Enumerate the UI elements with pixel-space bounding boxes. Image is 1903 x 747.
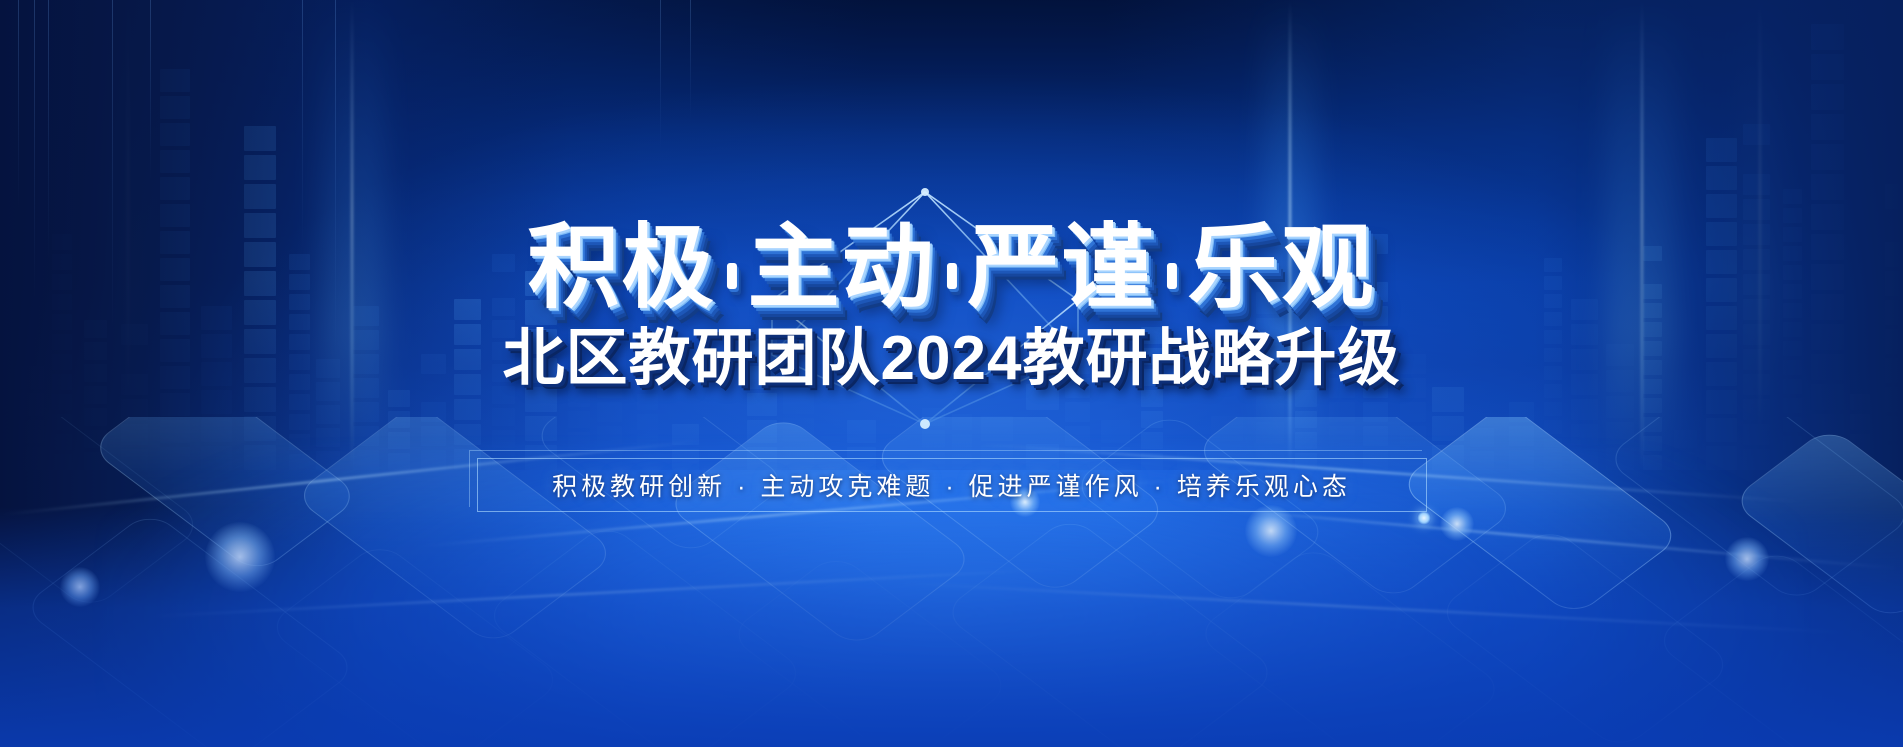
subtitle: 北区教研团队2024教研战略升级 xyxy=(503,328,1401,390)
background-hairline xyxy=(48,0,49,260)
background-hairline xyxy=(18,0,19,210)
tagline-text: 积极教研创新 · 主动攻克难题 · 促进严谨作风 · 培养乐观心态 xyxy=(552,467,1351,503)
headline-word: 积极 xyxy=(527,222,715,314)
background-hairline xyxy=(302,0,303,250)
background-hairline xyxy=(660,0,661,150)
headline: 积极主动严谨乐观 xyxy=(527,222,1375,314)
background-hairline xyxy=(34,0,35,300)
headline-separator-dot-icon xyxy=(947,263,957,289)
background-hairline xyxy=(690,0,691,120)
banner-root: 积极主动严谨乐观 北区教研团队2024教研战略升级 积极教研创新 · 主动攻克难… xyxy=(0,0,1903,747)
headline-separator-dot-icon xyxy=(1167,263,1177,289)
banner-text-block: 积极主动严谨乐观 北区教研团队2024教研战略升级 积极教研创新 · 主动攻克难… xyxy=(0,0,1903,747)
headline-word: 严谨 xyxy=(968,222,1156,314)
tagline-box: 积极教研创新 · 主动攻克难题 · 促进严谨作风 · 培养乐观心态 xyxy=(477,458,1427,512)
headline-word: 乐观 xyxy=(1188,222,1376,314)
tagline-corner-glow-icon xyxy=(1417,511,1431,525)
headline-word: 主动 xyxy=(747,222,935,314)
background-hairline xyxy=(112,0,113,330)
background-hairline xyxy=(335,0,336,360)
headline-separator-dot-icon xyxy=(726,263,736,289)
background-hairline xyxy=(150,0,151,180)
